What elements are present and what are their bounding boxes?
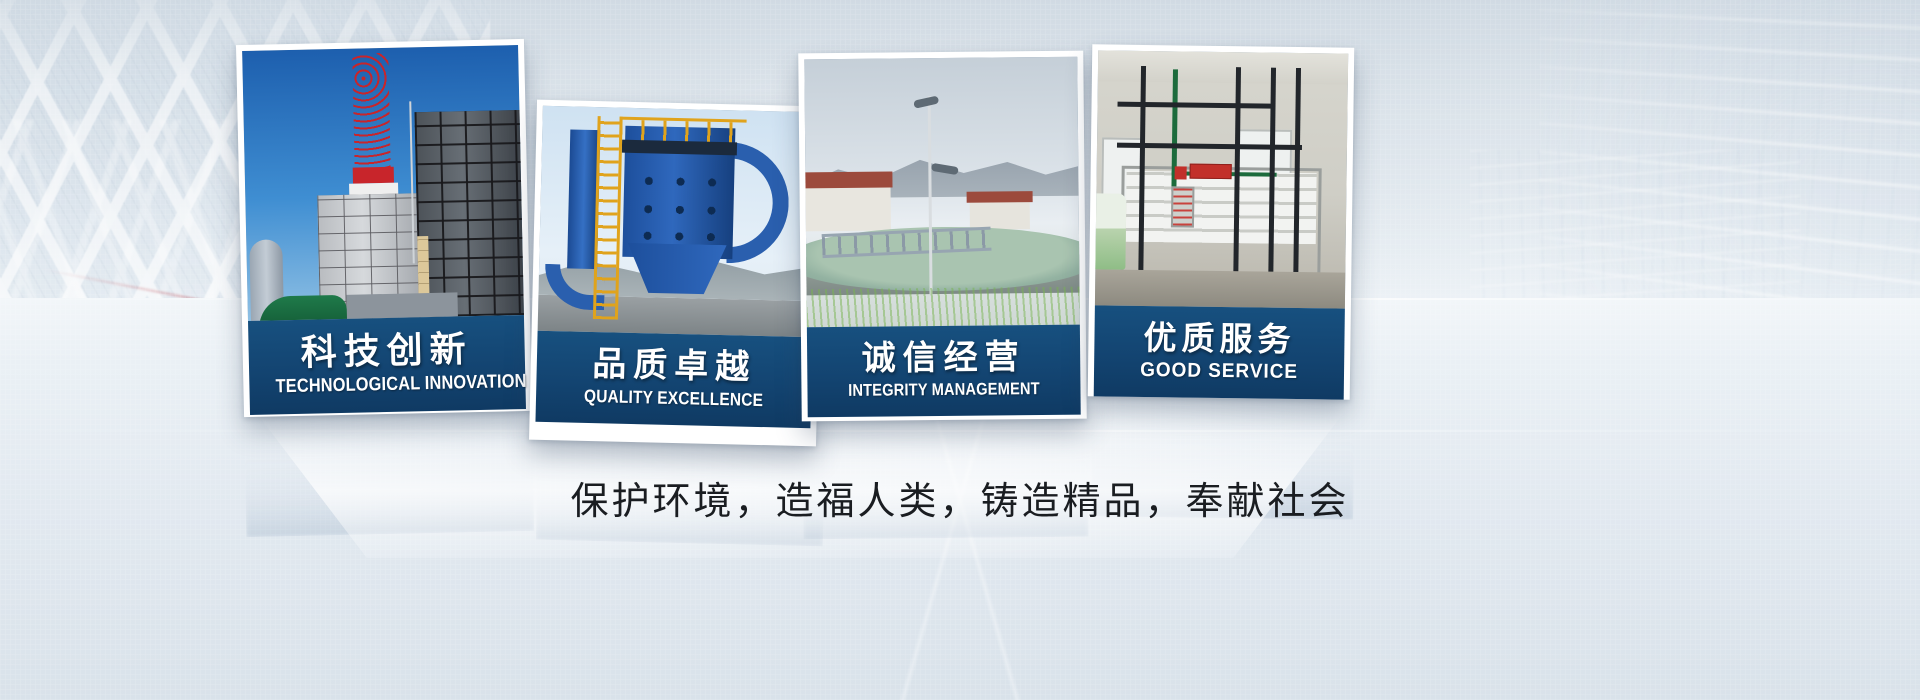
card-caption: 科技创新 TECHNOLOGICAL INNOVATION <box>248 315 526 415</box>
photo-hedge <box>807 287 1080 327</box>
card-photo-dust-collector <box>538 106 818 337</box>
photo-red-sign <box>1189 164 1232 180</box>
photo-dosing-tank <box>1095 193 1126 270</box>
photo-floor <box>1095 270 1345 309</box>
card-photo-industrial-stack <box>242 45 524 321</box>
photo-red-tag <box>1174 166 1187 179</box>
card-title-cn: 优质服务 <box>1102 319 1336 358</box>
photo-pulse-valves <box>630 166 725 245</box>
photo-secondary-roof <box>967 191 1033 202</box>
card-caption: 优质服务 GOOD SERVICE <box>1094 305 1345 399</box>
value-card-technological-innovation[interactable]: 科技创新 TECHNOLOGICAL INNOVATION <box>236 39 532 417</box>
card-title-cn: 诚信经营 <box>815 339 1072 378</box>
card-title-en: INTEGRITY MANAGEMENT <box>833 379 1054 401</box>
banner-stage: 科技创新 TECHNOLOGICAL INNOVATION <box>0 0 1920 700</box>
photo-chimney-red-band <box>352 167 394 184</box>
card-title-cn: 科技创新 <box>256 329 517 374</box>
card-photo-wastewater-plant <box>804 57 1080 328</box>
value-card-good-service[interactable]: 优质服务 GOOD SERVICE <box>1088 44 1355 399</box>
photo-patterned-chimney <box>353 53 392 178</box>
card-title-cn: 品质卓越 <box>544 345 804 388</box>
card-photo-ro-membrane-room <box>1095 50 1348 308</box>
photo-yellow-railing <box>619 117 746 142</box>
card-caption: 品质卓越 QUALITY EXCELLENCE <box>535 331 812 428</box>
photo-skid-frame <box>1120 165 1321 280</box>
photo-dark-tower <box>415 110 524 318</box>
photo-collector-top <box>622 139 738 155</box>
photo-yellow-ladder <box>593 116 623 319</box>
card-title-en: TECHNOLOGICAL INNOVATION <box>275 371 499 398</box>
card-caption: 诚信经营 INTEGRITY MANAGEMENT <box>807 325 1081 417</box>
photo-red-roof <box>804 171 893 188</box>
value-card-quality-excellence[interactable]: 品质卓越 QUALITY EXCELLENCE <box>529 100 824 447</box>
card-title-en: GOOD SERVICE <box>1108 358 1331 384</box>
value-card-integrity-management[interactable]: 诚信经营 INTEGRITY MANAGEMENT <box>798 51 1087 422</box>
card-title-en: QUALITY EXCELLENCE <box>562 385 785 411</box>
photo-ceiling <box>1098 50 1348 84</box>
banner-tagline: 保护环境，造福人类，铸造精品，奉献社会 <box>0 470 1920 525</box>
photo-control-panel <box>1171 186 1194 227</box>
